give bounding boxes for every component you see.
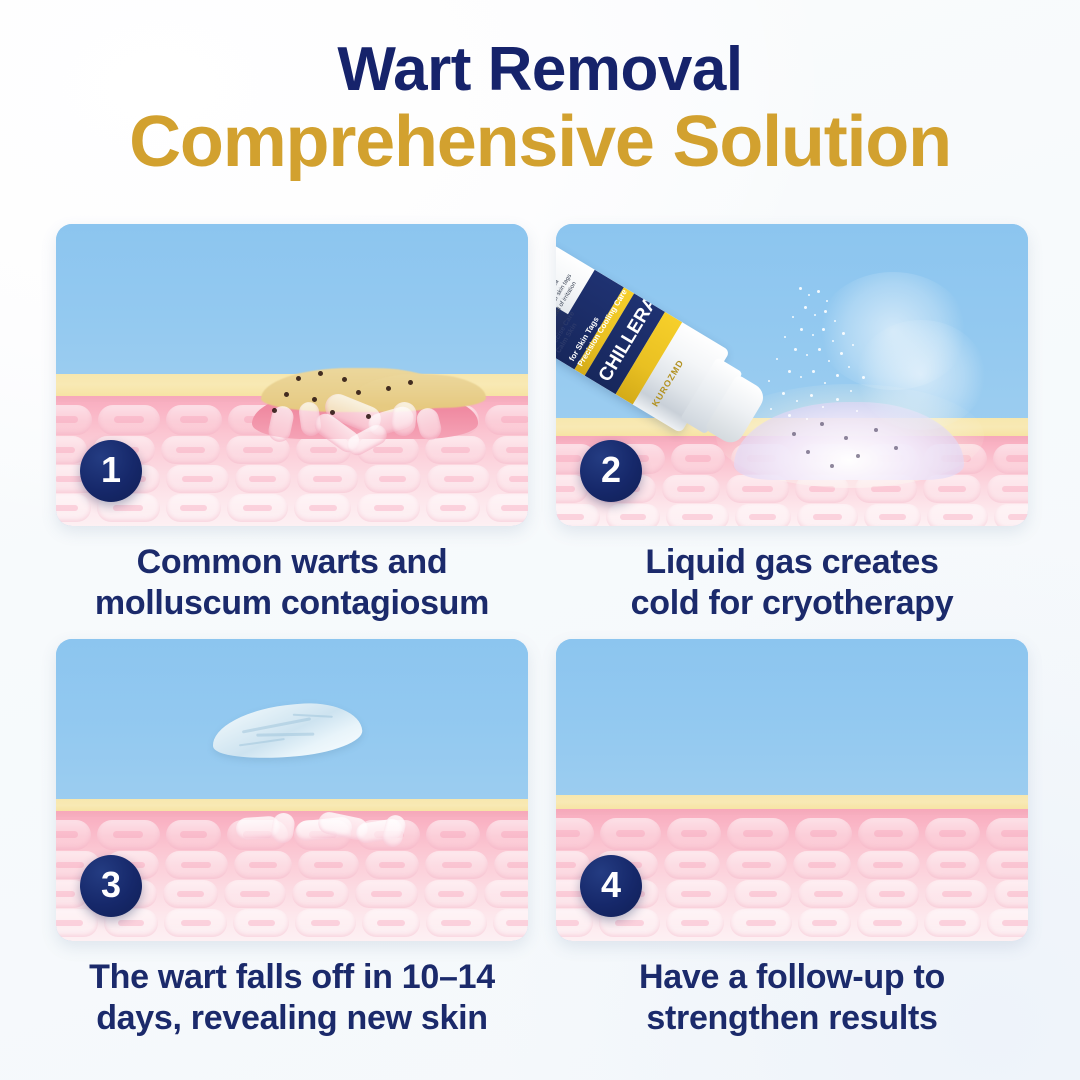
step-illustration-4: 4 [556,639,1028,941]
step-number-4: 4 [601,867,621,903]
steps-grid: 1 Common warts and molluscum contagiosum [56,224,1028,1040]
step-number-1: 1 [101,452,121,488]
step-number-3: 3 [101,867,121,903]
page-title-line2: Comprehensive Solution [0,105,1080,180]
step-caption-2-line2: cold for cryotherapy [556,583,1028,624]
page-title-line1: Wart Removal [0,38,1080,101]
step-card-4: 4 Have a follow-up to strengthen results [556,639,1028,1040]
step-caption-3-line2: days, revealing new skin [56,998,528,1039]
step-card-3: 3 The wart falls off in 10–14 days, reve… [56,639,528,1040]
step-caption-2-line1: Liquid gas creates [556,542,1028,583]
step-caption-1-line1: Common warts and [56,542,528,583]
step-caption-3-line1: The wart falls off in 10–14 [56,957,528,998]
step-illustration-2: CHILLERASE Precision Cooling Care for Sk… [556,224,1028,526]
step-number-badge-3: 3 [80,855,142,917]
step-caption-1-line2: molluscum contagiosum [56,583,528,624]
step-caption-3: The wart falls off in 10–14 days, reveal… [56,957,528,1040]
step-caption-1: Common warts and molluscum contagiosum [56,542,528,625]
step-number-badge-4: 4 [580,855,642,917]
step-card-2: CHILLERASE Precision Cooling Care for Sk… [556,224,1028,625]
step-number-badge-1: 1 [80,440,142,502]
step-caption-4: Have a follow-up to strengthen results [556,957,1028,1040]
step-illustration-3: 3 [56,639,528,941]
step-caption-2: Liquid gas creates cold for cryotherapy [556,542,1028,625]
step-number-2: 2 [601,452,621,488]
step-card-1: 1 Common warts and molluscum contagiosum [56,224,528,625]
cold-mist-cloud [856,320,986,430]
step-illustration-1: 1 [56,224,528,526]
header: Wart Removal Comprehensive Solution [0,0,1080,180]
step-caption-4-line1: Have a follow-up to [556,957,1028,998]
step-caption-4-line2: strengthen results [556,998,1028,1039]
step-number-badge-2: 2 [580,440,642,502]
